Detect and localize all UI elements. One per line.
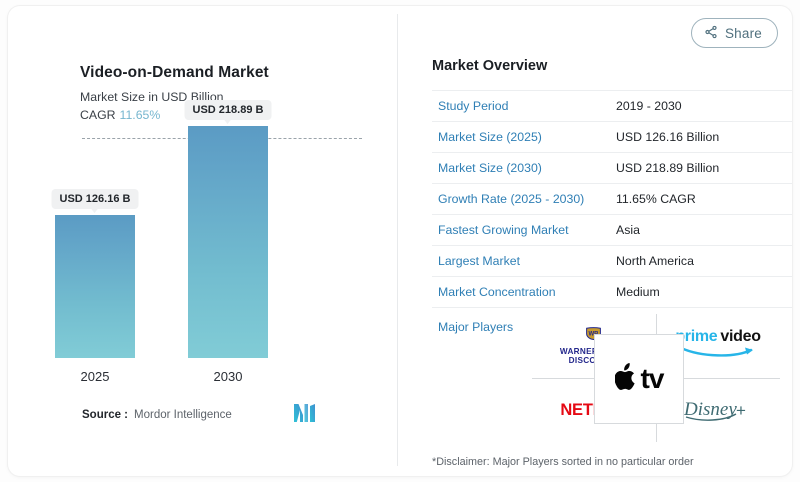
source-label: Source : bbox=[82, 409, 128, 421]
chart-title: Video-on-Demand Market bbox=[80, 64, 269, 82]
table-row: Study Period 2019 - 2030 bbox=[432, 91, 792, 122]
market-overview-panel: Market Overview Study Period 2019 - 2030… bbox=[412, 14, 792, 466]
row-value: Asia bbox=[616, 215, 792, 246]
svg-text:+: + bbox=[736, 401, 746, 420]
row-key: Fastest Growing Market bbox=[432, 215, 616, 246]
share-button-label: Share bbox=[725, 26, 762, 41]
bar-label-2025: USD 126.16 B bbox=[52, 189, 139, 209]
source-value: Mordor Intelligence bbox=[134, 409, 232, 421]
chart-cagr-label: CAGR bbox=[80, 108, 116, 122]
row-key: Growth Rate (2025 - 2030) bbox=[432, 184, 616, 215]
table-row: Market Size (2030) USD 218.89 Billion bbox=[432, 153, 792, 184]
bar-chart-plot: USD 126.16 B USD 218.89 B 2025 2030 bbox=[20, 124, 397, 386]
row-value: Medium bbox=[616, 277, 792, 308]
apple-tv-text: tv bbox=[641, 363, 664, 395]
source-row: Source : Mordor Intelligence bbox=[82, 404, 320, 425]
row-key: Market Size (2030) bbox=[432, 153, 616, 184]
apple-logo-icon bbox=[615, 363, 637, 395]
table-row: Market Concentration Medium bbox=[432, 277, 792, 308]
overview-title: Market Overview bbox=[432, 58, 547, 74]
share-button[interactable]: Share bbox=[691, 18, 778, 48]
chart-panel: Video-on-Demand Market Market Size in US… bbox=[20, 14, 398, 466]
chart-cagr: CAGR11.65% bbox=[80, 108, 160, 122]
row-value: 2019 - 2030 bbox=[616, 91, 792, 122]
disclaimer-text: *Disclaimer: Major Players sorted in no … bbox=[432, 456, 694, 468]
bar-label-2030: USD 218.89 B bbox=[185, 100, 272, 120]
prime-video-word2: video bbox=[720, 328, 760, 345]
amazon-swoosh-icon bbox=[679, 346, 757, 363]
row-key: Study Period bbox=[432, 91, 616, 122]
x-axis-tick-2030: 2030 bbox=[214, 369, 243, 384]
row-key: Largest Market bbox=[432, 246, 616, 277]
row-value: USD 126.16 Billion bbox=[616, 122, 792, 153]
chart-cagr-value: 11.65% bbox=[120, 108, 161, 122]
x-axis-tick-2025: 2025 bbox=[81, 369, 110, 384]
row-key: Market Concentration bbox=[432, 277, 616, 308]
mordor-intelligence-logo bbox=[294, 404, 320, 425]
major-players-logo-grid: WB WARNER BROS. DISCOVERY primevideo bbox=[532, 314, 780, 442]
row-value: 11.65% CAGR bbox=[616, 184, 792, 215]
row-key: Market Size (2025) bbox=[432, 122, 616, 153]
vod-market-infographic: Share Video-on-Demand Market Market Size… bbox=[0, 0, 800, 482]
infographic-card: Share Video-on-Demand Market Market Size… bbox=[8, 6, 792, 476]
share-nodes-icon bbox=[704, 25, 718, 42]
market-overview-table: Study Period 2019 - 2030 Market Size (20… bbox=[432, 90, 792, 338]
table-row: Market Size (2025) USD 126.16 Billion bbox=[432, 122, 792, 153]
table-row: Growth Rate (2025 - 2030) 11.65% CAGR bbox=[432, 184, 792, 215]
bar-2025[interactable] bbox=[55, 215, 135, 358]
table-row: Largest Market North America bbox=[432, 246, 792, 277]
bar-2030[interactable] bbox=[188, 126, 268, 358]
table-row: Fastest Growing Market Asia bbox=[432, 215, 792, 246]
row-value: North America bbox=[616, 246, 792, 277]
row-value: USD 218.89 Billion bbox=[616, 153, 792, 184]
player-logo-apple-tv: tv bbox=[594, 334, 684, 424]
disney-plus-wordmark: Disney + bbox=[682, 393, 754, 428]
